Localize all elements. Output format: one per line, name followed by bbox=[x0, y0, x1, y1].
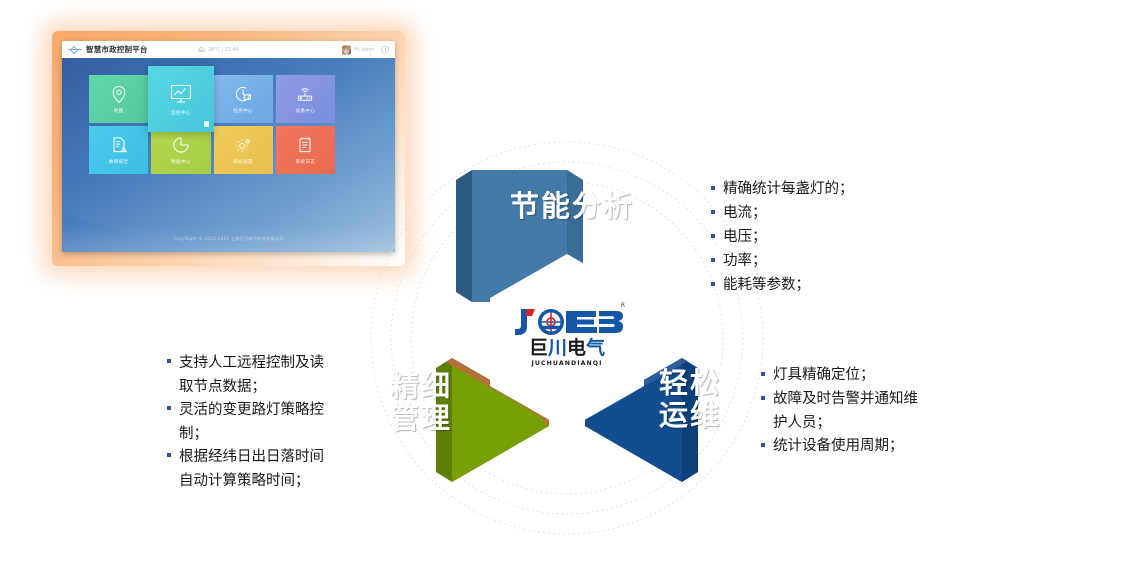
list-item: 故障及时告警并通知维 bbox=[760, 388, 990, 411]
list-item: 电流； bbox=[710, 202, 950, 225]
list-item: 支持人工远程控制及读 bbox=[166, 352, 346, 375]
tile-label: 系统日志 bbox=[296, 159, 316, 165]
user-area[interactable]: Hi, Jason bbox=[342, 45, 389, 54]
cursor-icon bbox=[204, 121, 209, 127]
list-item: 精确统计每盏灯的； bbox=[710, 178, 950, 201]
jc-emblem-logo-icon: R bbox=[511, 306, 623, 338]
tile-fault-report[interactable]: 故障报告 bbox=[89, 126, 148, 174]
tile-device-center[interactable]: 设备中心 bbox=[276, 75, 335, 123]
clock-task-icon bbox=[233, 84, 253, 104]
app-header: 智慧市政控制平台 28℃ | 21:40 Hi, Jason bbox=[62, 41, 395, 58]
clipboard-icon bbox=[295, 135, 315, 155]
list-item-continuation: 自动计算策略时间； bbox=[166, 470, 346, 493]
pie-chart-icon bbox=[171, 135, 191, 155]
monitor-chart-icon bbox=[169, 82, 193, 106]
location-pin-icon bbox=[109, 84, 129, 104]
text-block-refined-management: 支持人工远程控制及读 取节点数据； 灵活的变更路灯策略控 制； 根据经纬日出日落… bbox=[166, 352, 346, 492]
list-item: 根据经纬日出日落时间 bbox=[166, 446, 346, 469]
avatar[interactable] bbox=[342, 45, 351, 54]
tile-label: 系统设置 bbox=[233, 159, 253, 165]
list-item: 灯具精确定位； bbox=[760, 364, 990, 387]
text-block-energy-analysis: 精确统计每盏灯的； 电流； 电压； 功率； 能耗等参数； bbox=[710, 178, 950, 298]
copyright-text: CopyRight © 2013-2015 上海巨川电子科技有限公司 bbox=[174, 236, 284, 242]
cloud-icon bbox=[198, 47, 205, 52]
wifi-router-icon bbox=[295, 84, 315, 104]
tile-label: 任务中心 bbox=[233, 108, 253, 114]
tile-label: 数据中心 bbox=[171, 159, 191, 165]
tile-label: 地图 bbox=[114, 108, 124, 114]
document-alert-icon bbox=[109, 135, 129, 155]
gear-icon bbox=[233, 135, 253, 155]
tile-label: 故障报告 bbox=[109, 159, 129, 165]
tile-wrap-monitor: 监控中心 bbox=[151, 75, 210, 123]
app-title: 智慧市政控制平台 bbox=[86, 44, 148, 55]
list-item: 能耗等参数； bbox=[710, 274, 950, 297]
list-item-continuation: 护人员； bbox=[760, 412, 990, 435]
list-item: 灵活的变更路灯策略控 bbox=[166, 399, 346, 422]
list-item: 统计设备使用周期； bbox=[760, 435, 990, 458]
header-divider bbox=[370, 49, 371, 58]
logo-company-name-pinyin: JUCHUANDIANQI bbox=[531, 360, 602, 367]
text-block-easy-ops: 灯具精确定位； 故障及时告警并通知维 护人员； 统计设备使用周期； bbox=[760, 364, 990, 459]
list-item: 功率； bbox=[710, 250, 950, 273]
tile-label: 监控中心 bbox=[171, 110, 191, 116]
logo-company-name-cn: 巨川电气 bbox=[529, 339, 605, 358]
weather-time-readout: 28℃ | 21:40 bbox=[198, 47, 239, 53]
tile-task-center[interactable]: 任务中心 bbox=[214, 75, 273, 123]
center-company-logo: R 巨川电气 JUCHUANDIANQI bbox=[502, 298, 632, 374]
list-item: 电压； bbox=[710, 226, 950, 249]
list-item-continuation: 制； bbox=[166, 423, 346, 446]
registered-mark: R bbox=[621, 302, 625, 309]
tile-monitoring-center[interactable]: 监控中心 bbox=[148, 66, 213, 132]
diamond-line-logo-icon bbox=[68, 46, 82, 54]
user-name: Hi, Jason bbox=[354, 47, 374, 52]
power-icon[interactable] bbox=[381, 46, 389, 54]
tile-grid: 地图 监控中心 bbox=[89, 75, 335, 174]
tile-label: 设备中心 bbox=[296, 108, 316, 114]
tile-system-log[interactable]: 系统日志 bbox=[276, 126, 335, 174]
tile-data-center[interactable]: 数据中心 bbox=[151, 126, 210, 174]
tile-system-settings[interactable]: 系统设置 bbox=[214, 126, 273, 174]
tile-map[interactable]: 地图 bbox=[89, 75, 148, 123]
logo-mark-svg bbox=[511, 306, 623, 338]
list-item-continuation: 取节点数据； bbox=[166, 376, 346, 399]
weather-time-text: 28℃ | 21:40 bbox=[208, 47, 239, 53]
